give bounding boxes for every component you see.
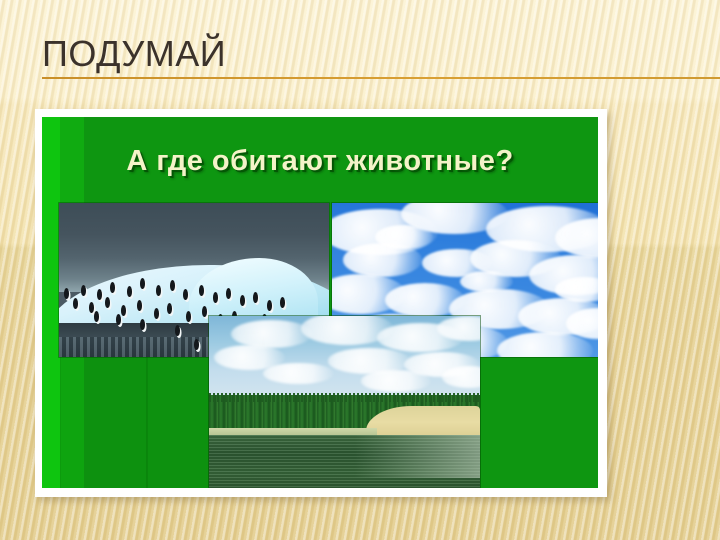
forest-cloud-shape	[231, 320, 312, 349]
forest-cloud-shape	[263, 363, 333, 385]
board-headline: А где обитают животные?	[42, 145, 598, 178]
penguin-icon	[94, 311, 99, 322]
forest-treeline-edge	[209, 393, 480, 402]
penguin-icon	[140, 319, 145, 330]
cloud-shape	[460, 271, 513, 293]
empty-placeholder-left	[60, 349, 148, 488]
penguin-icon	[194, 339, 199, 350]
title-underline-rule	[42, 77, 720, 79]
forest-cloud-shape	[361, 370, 431, 392]
penguin-icon	[73, 298, 78, 309]
photo-forest-and-lake	[209, 316, 480, 488]
penguin-icon	[89, 302, 94, 313]
penguin-icon	[97, 289, 102, 300]
penguin-icon	[81, 285, 86, 296]
penguin-icon	[127, 286, 132, 297]
penguin-icon	[213, 292, 218, 303]
penguin-icon	[202, 306, 207, 317]
forest-lake-glint	[355, 435, 480, 478]
penguin-icon	[240, 295, 245, 306]
green-board: А где обитают животные?	[42, 117, 598, 488]
penguin-icon	[105, 297, 110, 308]
penguin-icon	[121, 305, 126, 316]
cloud-shape	[555, 277, 598, 302]
penguin-icon	[267, 300, 272, 311]
penguin-icon	[175, 325, 180, 336]
penguin-icon	[154, 308, 159, 319]
penguin-icon	[186, 311, 191, 322]
penguin-icon	[167, 303, 172, 314]
penguin-icon	[156, 285, 161, 296]
penguin-icon	[116, 314, 121, 325]
slide-canvas: ПОДУМАЙ А где обитают животные?	[0, 0, 720, 540]
page-title: ПОДУМАЙ	[42, 33, 226, 75]
penguin-icon	[170, 280, 175, 291]
picture-frame: А где обитают животные?	[35, 109, 607, 497]
cloud-shape	[375, 225, 434, 250]
